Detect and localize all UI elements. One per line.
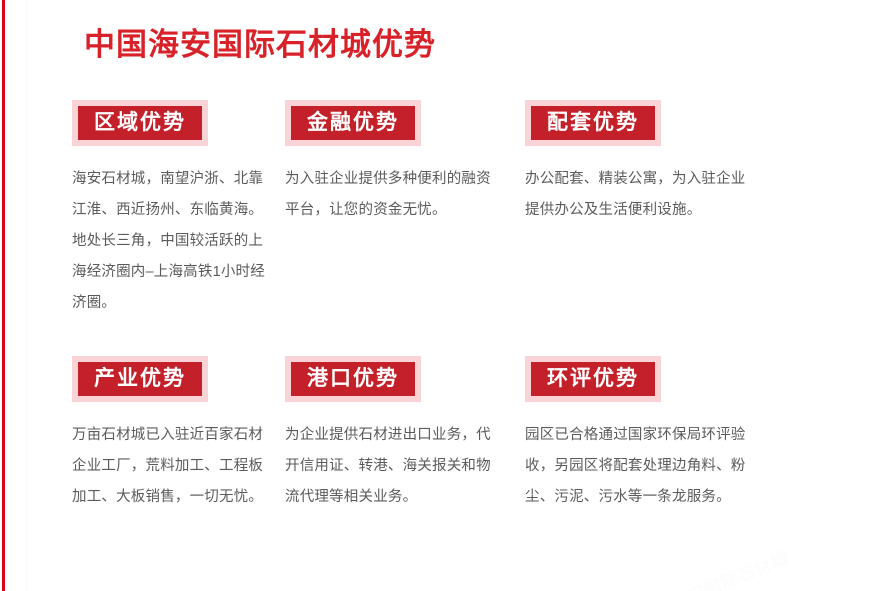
advantage-financial-text: 为入驻企业提供多种便利的融资平台，让您的资金无忧。 (285, 164, 500, 226)
advantage-card-facilities: 配套优势 办公配套、精装公寓，为入驻企业提供办公及生活便利设施。 (525, 100, 893, 241)
advantage-regional-text: 海安石材城，南望沪浙、北靠江淮、西近扬州、东临黄海。地处长三角，中国较活跃的上海… (72, 164, 272, 319)
advantage-port-text: 为企业提供石材进出口业务，代开信用证、转港、海关报关和物流代理等相关业务。 (285, 420, 500, 513)
advantages-row-2: 产业优势 万亩石材城已入驻近百家石材企业工厂，荒料加工、工程板加工、大板销售，一… (0, 356, 893, 528)
badge-regional-label: 区域优势 (78, 106, 202, 140)
advantages-page: 中国海安国际石材城优势 区域优势 海安石材城，南望沪浙、北靠江淮、西近扬州、东临… (0, 0, 893, 591)
advantage-environmental-text: 园区已合格通过国家环保局环评验收，另园区将配套处理边角料、粉尘、污泥、污水等一条… (525, 420, 747, 513)
advantage-industry-text: 万亩石材城已入驻近百家石材企业工厂，荒料加工、工程板加工、大板销售，一切无忧。 (72, 420, 272, 513)
badge-industry-label: 产业优势 (78, 362, 202, 396)
badge-financial-label: 金融优势 (291, 106, 415, 140)
advantage-card-financial: 金融优势 为入驻企业提供多种便利的融资平台，让您的资金无忧。 (280, 100, 525, 241)
advantage-card-industry: 产业优势 万亩石材城已入驻近百家石材企业工厂，荒料加工、工程板加工、大板销售，一… (0, 356, 280, 528)
badge-facilities: 配套优势 (525, 100, 661, 146)
advantages-grid: 区域优势 海安石材城，南望沪浙、北靠江淮、西近扬州、东临黄海。地处长三角，中国较… (0, 100, 893, 527)
advantage-card-environmental: 环评优势 园区已合格通过国家环保局环评验收，另园区将配套处理边角料、粉尘、污泥、… (525, 356, 893, 528)
advantage-facilities-text: 办公配套、精装公寓，为入驻企业提供办公及生活便利设施。 (525, 164, 747, 226)
badge-environmental-label: 环评优势 (531, 362, 655, 396)
badge-port-label: 港口优势 (291, 362, 415, 396)
watermark-line-2: 石材城 (675, 535, 879, 591)
advantages-row-1: 区域优势 海安石材城，南望沪浙、北靠江淮、西近扬州、东临黄海。地处长三角，中国较… (0, 100, 893, 334)
badge-facilities-label: 配套优势 (531, 106, 655, 140)
badge-environmental: 环评优势 (525, 356, 661, 402)
badge-port: 港口优势 (285, 356, 421, 402)
page-title: 中国海安国际石材城优势 (84, 23, 436, 67)
advantage-card-port: 港口优势 为企业提供石材进出口业务，代开信用证、转港、海关报关和物流代理等相关业… (280, 356, 525, 528)
badge-regional: 区域优势 (72, 100, 208, 146)
badge-financial: 金融优势 (285, 100, 421, 146)
badge-industry: 产业优势 (72, 356, 208, 402)
advantage-card-regional: 区域优势 海安石材城，南望沪浙、北靠江淮、西近扬州、东临黄海。地处长三角，中国较… (0, 100, 280, 334)
